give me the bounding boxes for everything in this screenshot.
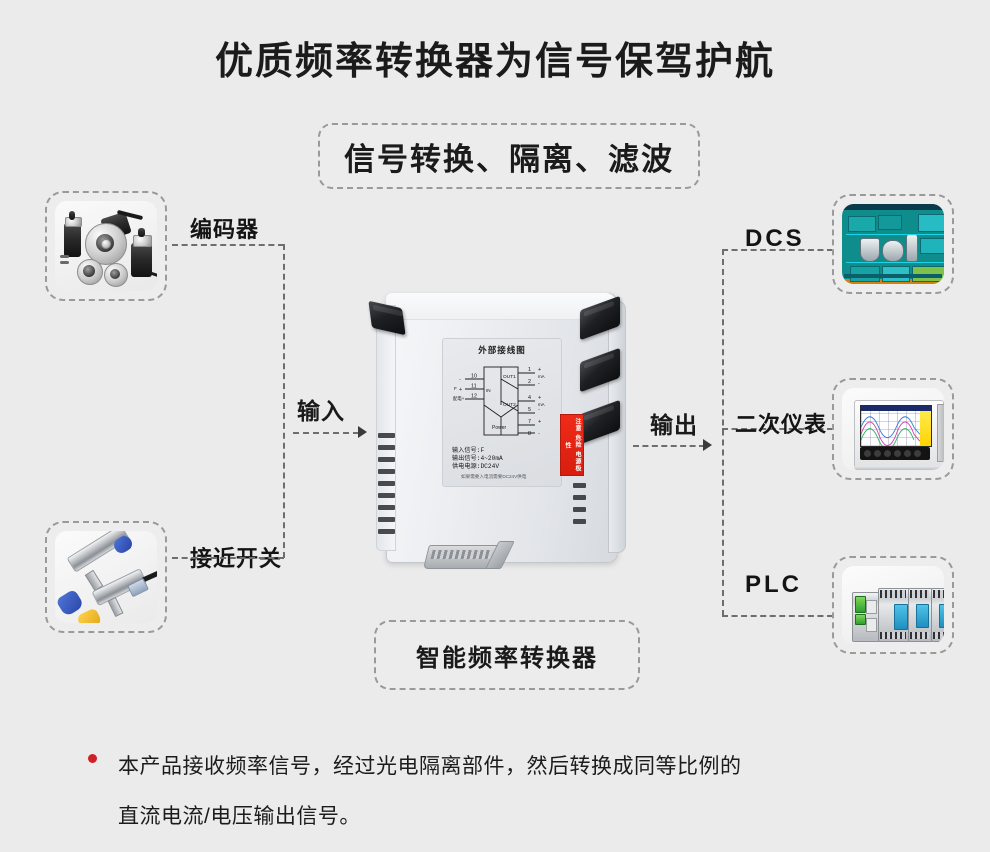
device-left-rail	[376, 305, 396, 551]
connector-proximity-branch	[172, 557, 284, 559]
subtitle-box: 信号转换、隔离、滤波	[318, 123, 700, 189]
output-arrow-head	[703, 439, 712, 451]
encoder-thumbnail-frame[interactable]	[45, 191, 167, 301]
svg-text:OUT2: OUT2	[503, 402, 516, 408]
svg-text:4: 4	[528, 395, 531, 401]
plate-title: 外部接线图	[443, 344, 561, 356]
svg-text:+: +	[538, 367, 541, 373]
output-flow-label: 输出	[650, 406, 698, 440]
svg-text:+: +	[538, 419, 541, 425]
svg-text:12: 12	[471, 394, 477, 400]
encoder-photo	[55, 201, 157, 291]
description-line-2: 直流电流/电压输出信号。	[118, 792, 948, 842]
svg-text:7: 7	[528, 419, 531, 425]
frequency-converter-device[interactable]: 外部接线图	[364, 283, 660, 583]
output-arrow-line	[633, 445, 705, 447]
svg-text:F: F	[454, 386, 457, 391]
warning-sticker-text: 注意 危险 电源极性	[562, 415, 582, 475]
svg-text:IN: IN	[486, 388, 491, 393]
spec-input: 输入信号:F	[452, 447, 503, 455]
connector-plc-branch	[722, 615, 833, 617]
svg-text:Power: Power	[492, 425, 507, 431]
svg-text:-: -	[538, 381, 540, 387]
svg-text:mA: mA	[538, 374, 545, 379]
svg-text:配电+: 配电+	[453, 395, 465, 402]
dest-label-plc: PLC	[745, 571, 802, 599]
svg-text:-: -	[538, 431, 540, 437]
device-caption-text: 智能频率转换器	[416, 638, 598, 673]
svg-text:+: +	[459, 387, 462, 393]
spec-power: 供电电源:DC24V	[452, 463, 503, 471]
dcs-screen-photo	[842, 204, 944, 284]
dcs-thumbnail-frame[interactable]	[832, 194, 954, 294]
device-wiring-plate: 外部接线图	[442, 338, 562, 487]
instrument-thumbnail-frame[interactable]	[832, 378, 954, 480]
dest-label-dcs: DCS	[745, 225, 805, 253]
device-caption-box: 智能频率转换器	[374, 620, 640, 690]
input-arrow-line	[293, 432, 359, 434]
proximity-switch-photo	[55, 531, 157, 623]
svg-text:10: 10	[471, 374, 477, 380]
page-title: 优质频率转换器为信号保驾护航	[0, 30, 990, 85]
svg-text:5: 5	[528, 407, 531, 413]
svg-text:+: +	[538, 395, 541, 401]
plc-rack-photo	[842, 566, 944, 644]
plate-note: 如果需要入电流需要DC24V供电	[461, 474, 526, 480]
svg-text:8: 8	[528, 431, 531, 437]
wiring-schematic: 10 11 12 - + 配电+ F IN OUT1 OUT2 Power 1 …	[451, 361, 553, 443]
svg-text:-: -	[459, 377, 461, 383]
connector-right-spine	[722, 249, 724, 616]
svg-text:OUT1: OUT1	[503, 374, 516, 380]
source-label-encoder: 编码器	[190, 212, 259, 244]
svg-text:11: 11	[471, 384, 477, 390]
connector-left-spine	[283, 244, 285, 558]
proximity-thumbnail-frame[interactable]	[45, 521, 167, 633]
svg-text:-: -	[538, 407, 540, 413]
svg-text:1: 1	[528, 367, 531, 373]
paperless-recorder-photo	[842, 388, 944, 470]
description-block: 本产品接收频率信号，经过光电隔离部件，然后转换成同等比例的 直流电流/电压输出信…	[88, 742, 948, 842]
plate-specs: 输入信号:F 输出信号:4~20mA 供电电源:DC24V	[452, 447, 503, 472]
warning-sticker: 注意 危险 电源极性	[560, 414, 584, 476]
dest-label-instrument: 二次仪表	[735, 407, 827, 439]
description-line-1: 本产品接收频率信号，经过光电隔离部件，然后转换成同等比例的	[118, 742, 948, 792]
plc-thumbnail-frame[interactable]	[832, 556, 954, 654]
diagram-canvas: 优质频率转换器为信号保驾护航 信号转换、隔离、滤波	[0, 0, 990, 852]
svg-text:2: 2	[528, 379, 531, 385]
connector-encoder-branch	[172, 244, 284, 246]
input-flow-label: 输入	[297, 392, 345, 426]
subtitle-text: 信号转换、隔离、滤波	[344, 134, 674, 179]
bullet-dot-icon	[88, 754, 97, 763]
